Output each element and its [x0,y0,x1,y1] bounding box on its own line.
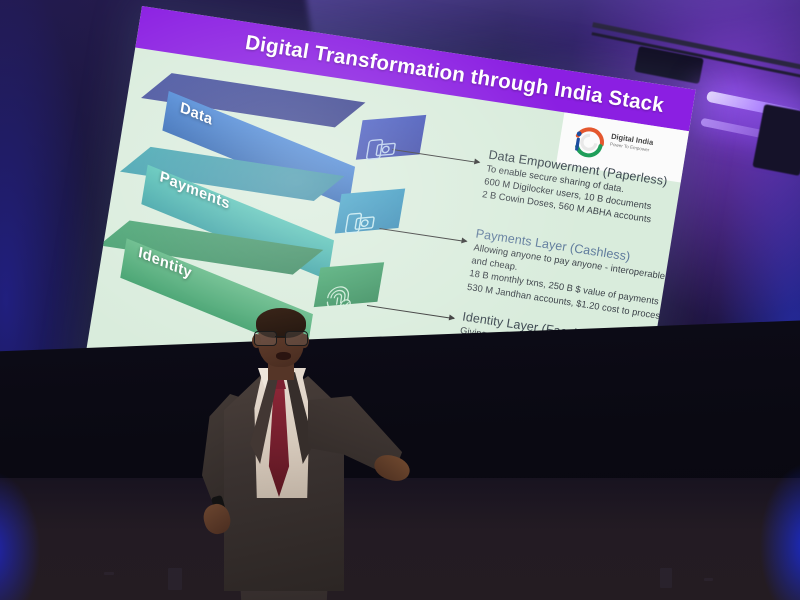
floor-fixture-left [168,568,182,590]
floor-marker-right [704,578,713,581]
speaker-glasses-icon [254,331,308,344]
data-share-icon [364,134,399,164]
floor-marker-left [104,572,114,575]
floor-glow-right [720,460,800,600]
presentation-photo-scene: Digital Transformation through India Sta… [0,0,800,600]
callout-arrow-data [392,149,479,163]
digital-india-swirl-icon [570,124,609,161]
payment-share-icon [342,208,377,238]
floor-fixture-right [660,568,672,588]
speaker-mouth [276,352,291,360]
speaker [196,298,426,600]
floor-glow-left [0,470,90,600]
callout-arrow-payments [379,228,466,242]
